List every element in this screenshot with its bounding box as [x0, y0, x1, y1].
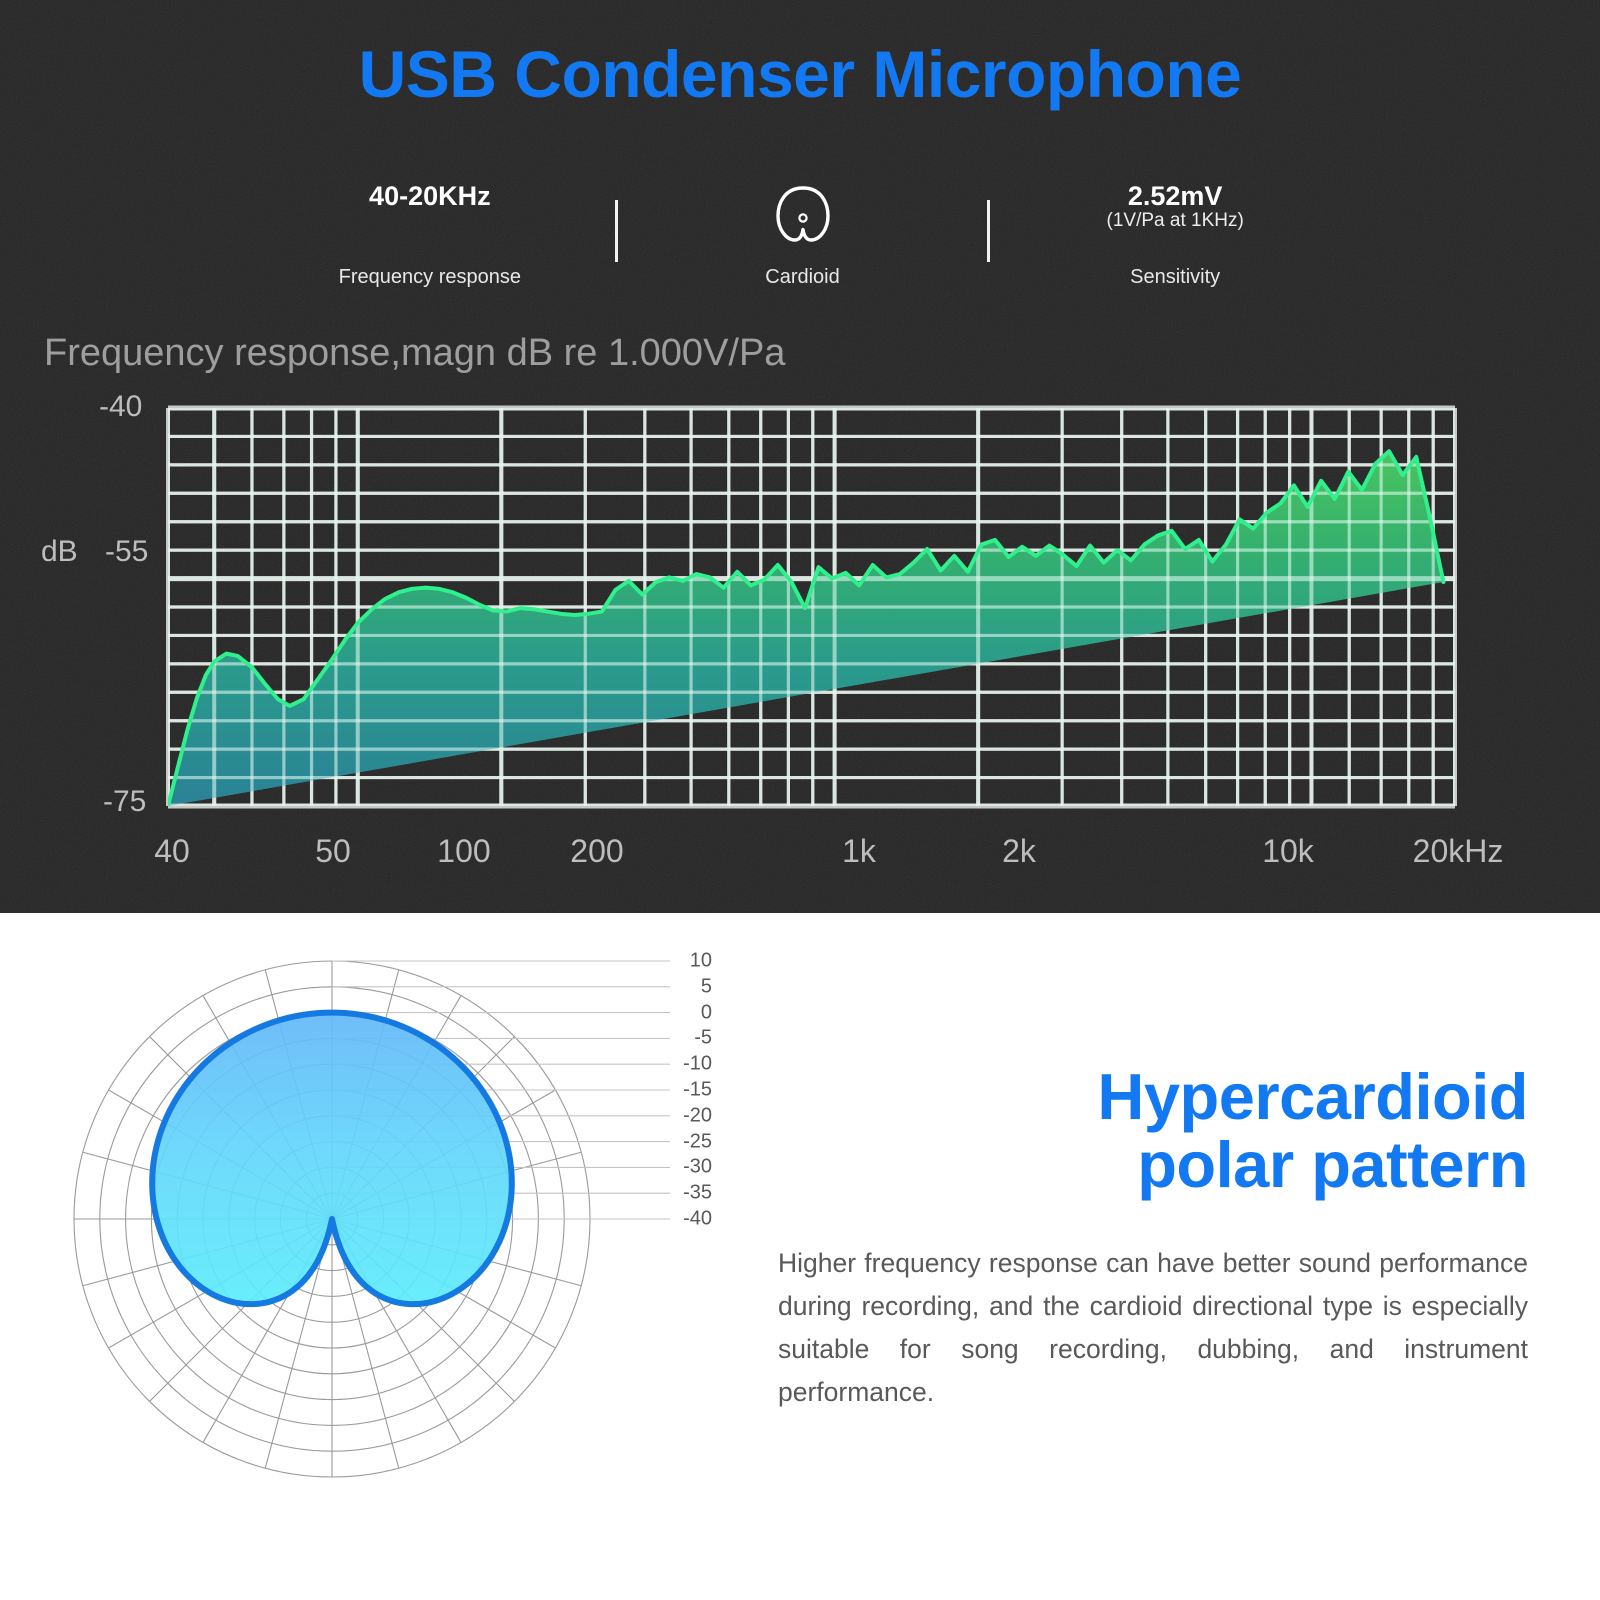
spec-label: Frequency response — [339, 266, 521, 289]
feature-heading-line2: polar pattern — [778, 1131, 1528, 1199]
feature-heading: Hypercardioid polar pattern — [778, 1063, 1528, 1198]
spec-value: 40-20KHz — [369, 182, 491, 210]
spec-strip: 40-20KHz Frequency response Cardioid 2.5… — [245, 168, 1360, 293]
y-axis-name: dB — [41, 535, 78, 569]
page-title: USB Condenser Microphone — [0, 36, 1600, 112]
polar-tick-neg30: -30 — [660, 1156, 712, 1179]
x-tick-20k: 20kHz — [1413, 833, 1504, 870]
spec-sensitivity: 2.52mV (1V/Pa at 1KHz) Sensitivity — [990, 168, 1360, 293]
polar-tick-neg35: -35 — [660, 1182, 712, 1205]
cardioid-polar-icon — [775, 184, 831, 251]
frequency-response-plot — [0, 380, 1600, 880]
x-tick-1k: 1k — [842, 833, 876, 870]
polar-tick-neg25: -25 — [660, 1130, 712, 1153]
feature-heading-line1: Hypercardioid — [778, 1063, 1528, 1131]
polar-tick-neg20: -20 — [660, 1104, 712, 1127]
bottom-white-panel: 1050-5-10-15-20-25-30-35-40 Hypercardioi… — [0, 913, 1600, 1600]
spec-subvalue: (1V/Pa at 1KHz) — [1107, 210, 1244, 232]
feature-section: Hypercardioid polar pattern Higher frequ… — [778, 1063, 1528, 1414]
polar-pattern-chart: 1050-5-10-15-20-25-30-35-40 — [30, 919, 750, 1579]
polar-plot — [30, 919, 750, 1579]
spec-label: Sensitivity — [1130, 266, 1220, 289]
spec-frequency-response: 40-20KHz Frequency response — [245, 168, 615, 293]
spec-value: 2.52mV — [1107, 182, 1244, 210]
polar-tick-neg5: -5 — [660, 1027, 712, 1050]
x-tick-2k: 2k — [1002, 833, 1036, 870]
frequency-response-chart: -40 dB -55 -75 40 50 100 200 1k 2k 10k 2… — [0, 380, 1600, 880]
spec-label: Cardioid — [765, 266, 839, 289]
x-tick-10k: 10k — [1262, 833, 1314, 870]
polar-tick-neg40: -40 — [660, 1208, 712, 1231]
feature-body-text: Higher frequency response can have bette… — [778, 1242, 1528, 1414]
polar-tick-neg15: -15 — [660, 1079, 712, 1102]
x-tick-40: 40 — [154, 833, 190, 870]
top-dark-panel: USB Condenser Microphone 40-20KHz Freque… — [0, 0, 1600, 913]
spec-cardioid: Cardioid — [618, 168, 988, 293]
x-tick-50: 50 — [315, 833, 351, 870]
y-tick-mid: -55 — [105, 535, 148, 569]
x-tick-200: 200 — [570, 833, 623, 870]
polar-tick-10: 10 — [660, 950, 712, 973]
frequency-chart-title: Frequency response,magn dB re 1.000V/Pa — [44, 332, 785, 375]
x-tick-100: 100 — [437, 833, 490, 870]
polar-tick-neg10: -10 — [660, 1053, 712, 1076]
polar-tick-0: 0 — [660, 1001, 712, 1024]
y-tick-top: -40 — [99, 390, 142, 424]
y-tick-bottom: -75 — [103, 785, 146, 819]
polar-tick-5: 5 — [660, 975, 712, 998]
